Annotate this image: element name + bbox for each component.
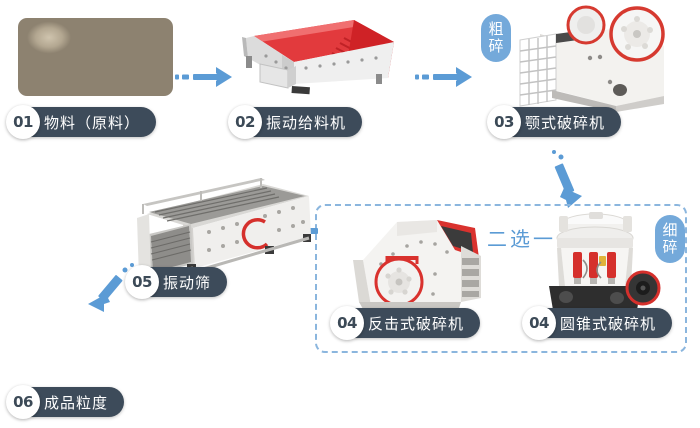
- vibrating-feeder-image: [236, 12, 396, 104]
- step-label-02[interactable]: 02 › 振动给料机: [228, 105, 362, 139]
- step-label-text-02: 振动给料机: [266, 112, 346, 133]
- step-label-text-03: 颚式破碎机: [525, 112, 605, 133]
- step-label-text-04-impact: 反击式破碎机: [368, 313, 464, 334]
- arrow-feeder-to-jaw-icon: [414, 62, 476, 92]
- jaw-crusher-image: [512, 4, 677, 112]
- flow-diagram-canvas: 粗 碎: [0, 0, 700, 428]
- fine-crush-tag-char-1: 细: [655, 222, 685, 239]
- step-label-text-05: 振动筛: [163, 272, 211, 293]
- step-number-04-impact: 04: [330, 306, 364, 340]
- step-number-02: 02: [228, 105, 262, 139]
- fine-crush-tag: 细 碎: [655, 215, 685, 263]
- coarse-crush-tag-char-1: 粗: [481, 21, 511, 38]
- step-label-01[interactable]: 01 › 物料（原料）: [6, 105, 156, 139]
- step-label-text-04-cone: 圆锥式破碎机: [560, 313, 656, 334]
- step-pill-05: › 振动筛: [150, 267, 227, 297]
- step-label-text-01: 物料（原料）: [44, 112, 140, 133]
- step-number-04-cone: 04: [522, 306, 556, 340]
- step-pill-01: › 物料（原料）: [31, 107, 156, 137]
- finished-product-photo: [20, 304, 146, 376]
- step-label-06[interactable]: 06 › 成品粒度: [6, 385, 124, 419]
- fine-crush-tag-char-2: 碎: [655, 239, 685, 256]
- step-label-05[interactable]: 05 › 振动筛: [125, 265, 227, 299]
- step-label-text-06: 成品粒度: [44, 392, 108, 413]
- step-pill-06: › 成品粒度: [31, 387, 124, 417]
- step-label-03[interactable]: 03 › 颚式破碎机: [487, 105, 621, 139]
- arrow-raw-to-feeder-icon: [174, 62, 236, 92]
- coarse-crush-tag-char-2: 碎: [481, 38, 511, 55]
- step-pill-04-cone: › 圆锥式破碎机: [547, 308, 672, 338]
- step-pill-03: › 颚式破碎机: [512, 107, 621, 137]
- coarse-crush-tag: 粗 碎: [481, 14, 511, 62]
- step-number-03: 03: [487, 105, 521, 139]
- step-label-04-cone[interactable]: 04 › 圆锥式破碎机: [522, 306, 672, 340]
- step-pill-04-impact: › 反击式破碎机: [355, 308, 480, 338]
- step-label-04-impact[interactable]: 04 › 反击式破碎机: [330, 306, 480, 340]
- step-number-01: 01: [6, 105, 40, 139]
- step-number-05: 05: [125, 265, 159, 299]
- step-number-06: 06: [6, 385, 40, 419]
- raw-material-photo: [18, 18, 173, 96]
- step-pill-02: › 振动给料机: [253, 107, 362, 137]
